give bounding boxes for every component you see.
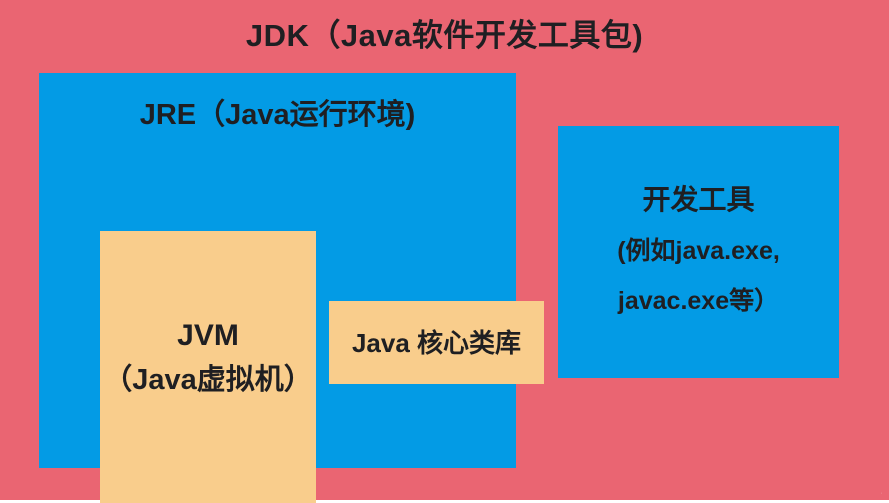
core-library-box: Java 核心类库 (329, 301, 544, 384)
dev-tools-example-line-1: (例如java.exe, (617, 226, 780, 276)
jre-title: JRE（Java运行环境) (39, 95, 516, 135)
page-title: JDK（Java软件开发工具包) (0, 14, 889, 58)
dev-tools-example-line-2: javac.exe等） (618, 276, 779, 326)
diagram-canvas: JDK（Java软件开发工具包) JRE（Java运行环境) JVM （Java… (0, 0, 889, 500)
jvm-label-secondary: （Java虚拟机） (103, 358, 313, 402)
dev-tools-box: 开发工具 (例如java.exe, javac.exe等） (558, 126, 839, 378)
watermark-text: · (880, 490, 883, 497)
jvm-label-primary: JVM (177, 314, 239, 358)
jvm-box: JVM （Java虚拟机） (100, 231, 316, 503)
jre-container-box: JRE（Java运行环境) JVM （Java虚拟机） Java 核心类库 (39, 73, 516, 468)
dev-tools-title: 开发工具 (642, 174, 754, 226)
core-library-label: Java 核心类库 (352, 325, 521, 361)
